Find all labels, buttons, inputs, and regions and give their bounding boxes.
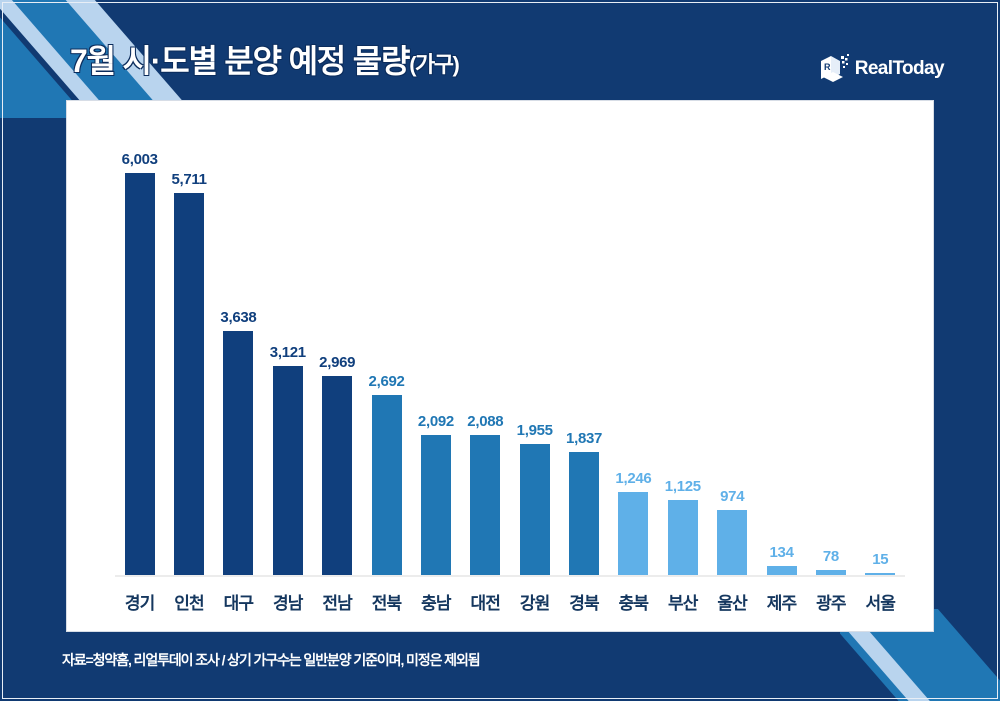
bar-value-label: 1,955	[517, 422, 553, 439]
bar-rect	[865, 573, 895, 575]
bar-category-label: 전남	[322, 589, 352, 614]
poster-frame: 7월 시·도별 분양 예정 물량(가구) R	[0, 0, 1000, 701]
bar-series: 6,003경기5,711인천3,638대구3,121경남2,969전남2,692…	[115, 125, 905, 575]
bar-column: 6,003경기	[115, 125, 164, 575]
bar-column: 1,125부산	[658, 125, 707, 575]
bar-rect	[767, 566, 797, 575]
bar-category-label: 경남	[273, 589, 303, 614]
brand-logo: R RealToday	[817, 52, 944, 86]
bar-category-label: 대전	[470, 589, 500, 614]
bar-value-label: 2,092	[418, 413, 454, 430]
bar-rect	[520, 444, 550, 575]
bar-column: 3,638대구	[214, 125, 263, 575]
bar-column: 974울산	[708, 125, 757, 575]
bar-column: 1,837경북	[559, 125, 608, 575]
bar-rect	[322, 376, 352, 575]
bar-category-label: 울산	[717, 589, 747, 614]
bar-category-label: 인천	[174, 589, 204, 614]
bar-value-label: 15	[872, 551, 888, 568]
bar-rect	[421, 435, 451, 575]
bar-value-label: 2,969	[319, 354, 355, 371]
bar-column: 15서울	[856, 125, 905, 575]
bar-rect	[125, 173, 155, 575]
page-title-main: 7월 시·도별 분양 예정 물량	[70, 43, 409, 79]
bar-chart: 6,003경기5,711인천3,638대구3,121경남2,969전남2,692…	[89, 115, 917, 631]
bar-column: 1,955강원	[510, 125, 559, 575]
bar-column: 2,692전북	[362, 125, 411, 575]
bar-value-label: 2,088	[467, 413, 503, 430]
bar-value-label: 3,121	[270, 344, 306, 361]
bar-rect	[470, 435, 500, 575]
bar-category-label: 대구	[224, 589, 254, 614]
bar-rect	[717, 510, 747, 575]
bar-category-label: 제주	[767, 589, 797, 614]
page-title-unit: (가구)	[409, 52, 458, 77]
bar-column: 1,246충북	[609, 125, 658, 575]
bar-category-label: 경기	[125, 589, 155, 614]
bar-value-label: 1,246	[615, 470, 651, 487]
brand-logo-text: RealToday	[855, 58, 944, 80]
bar-rect	[174, 193, 204, 575]
bar-column: 134제주	[757, 125, 806, 575]
bar-column: 3,121경남	[263, 125, 312, 575]
bar-column: 5,711인천	[164, 125, 213, 575]
cube-logo-icon: R	[817, 52, 851, 86]
bar-rect	[273, 366, 303, 575]
bar-category-label: 전북	[372, 589, 402, 614]
bar-rect	[816, 570, 846, 575]
bar-value-label: 3,638	[220, 309, 256, 326]
bar-column: 2,088대전	[461, 125, 510, 575]
bar-column: 78광주	[806, 125, 855, 575]
bar-value-label: 5,711	[171, 171, 206, 188]
bar-column: 2,969전남	[313, 125, 362, 575]
bar-rect	[372, 395, 402, 575]
bar-category-label: 충남	[421, 589, 451, 614]
bar-category-label: 광주	[816, 589, 846, 614]
bar-rect	[569, 452, 599, 575]
bar-category-label: 서울	[865, 589, 895, 614]
bar-category-label: 경북	[569, 589, 599, 614]
bar-value-label: 1,837	[566, 430, 602, 447]
bar-rect	[618, 492, 648, 575]
bar-category-label: 부산	[668, 589, 698, 614]
bar-column: 2,092충남	[411, 125, 460, 575]
bar-value-label: 6,003	[122, 151, 158, 168]
bar-rect	[223, 331, 253, 575]
bar-category-label: 충북	[619, 589, 649, 614]
bar-value-label: 78	[823, 548, 839, 565]
source-footnote: 자료=청약홈, 리얼투데이 조사 / 상기 가구수는 일반분양 기준이며, 미정…	[62, 650, 480, 670]
bar-value-label: 1,125	[665, 478, 701, 495]
bar-category-label: 강원	[520, 589, 550, 614]
header: 7월 시·도별 분양 예정 물량(가구) R	[0, 0, 1000, 96]
chart-baseline	[115, 575, 905, 577]
chart-panel: 6,003경기5,711인천3,638대구3,121경남2,969전남2,692…	[66, 100, 934, 632]
bar-value-label: 2,692	[369, 373, 405, 390]
page-title: 7월 시·도별 분양 예정 물량(가구)	[70, 36, 458, 82]
bar-value-label: 134	[769, 544, 793, 561]
svg-text:R: R	[824, 62, 831, 72]
bar-value-label: 974	[720, 488, 744, 505]
bar-rect	[668, 500, 698, 575]
